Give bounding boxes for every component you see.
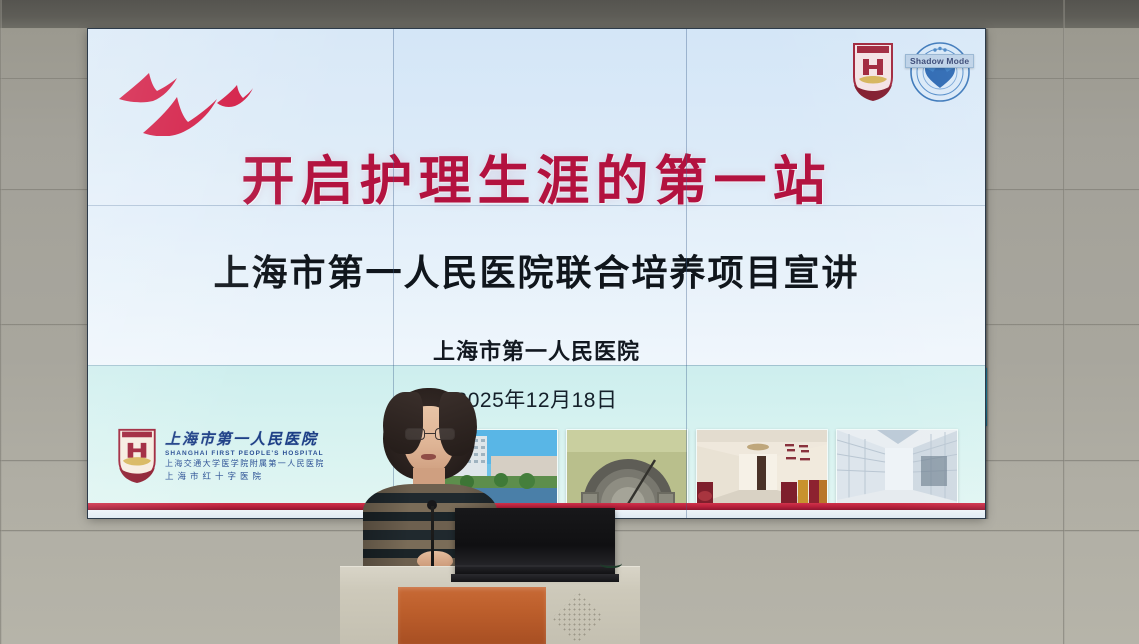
shadow-mode-label: Shadow Mode <box>905 54 974 68</box>
bird-decoration-group <box>113 51 253 136</box>
slide-photo-strip <box>88 429 985 507</box>
hospital-crest-icon <box>851 41 895 101</box>
presenter-mouth <box>421 454 436 460</box>
ceiling-band <box>0 0 1139 28</box>
led-video-wall: Shadow Mode 开启护理生涯的第一站 上海市第一人民医院联合培养项目宣讲… <box>88 29 985 518</box>
photo-glass-atrium <box>836 429 958 507</box>
slide-subtitle: 上海市第一人民医院联合培养项目宣讲 <box>88 244 985 296</box>
podium-wood-panel <box>398 587 546 644</box>
slide-organization: 上海市第一人民医院 <box>88 334 985 366</box>
laptop <box>455 508 615 576</box>
presenter-hair-right <box>439 392 477 456</box>
slide-top-logos: Shadow Mode <box>851 41 971 103</box>
cable <box>600 556 622 568</box>
presentation-room-photo: Shadow Mode 开启护理生涯的第一站 上海市第一人民医院联合培养项目宣讲… <box>0 0 1139 644</box>
wall-seam <box>1063 0 1065 644</box>
wall-seam <box>0 0 2 644</box>
presenter-glasses <box>405 428 455 441</box>
slide-main-title: 开启护理生涯的第一站 <box>88 139 985 215</box>
birds-icon <box>113 51 253 136</box>
photo-stone-sundial <box>566 429 688 507</box>
photo-interior-corridor <box>696 429 828 507</box>
slide-date: 2025年12月18日 <box>88 384 985 414</box>
presenter-hair-left <box>383 392 423 454</box>
shadow-mode-logo: Shadow Mode <box>909 41 971 103</box>
videowall-right-edge <box>986 29 989 519</box>
shadow-mode-emblem-icon <box>909 41 971 103</box>
